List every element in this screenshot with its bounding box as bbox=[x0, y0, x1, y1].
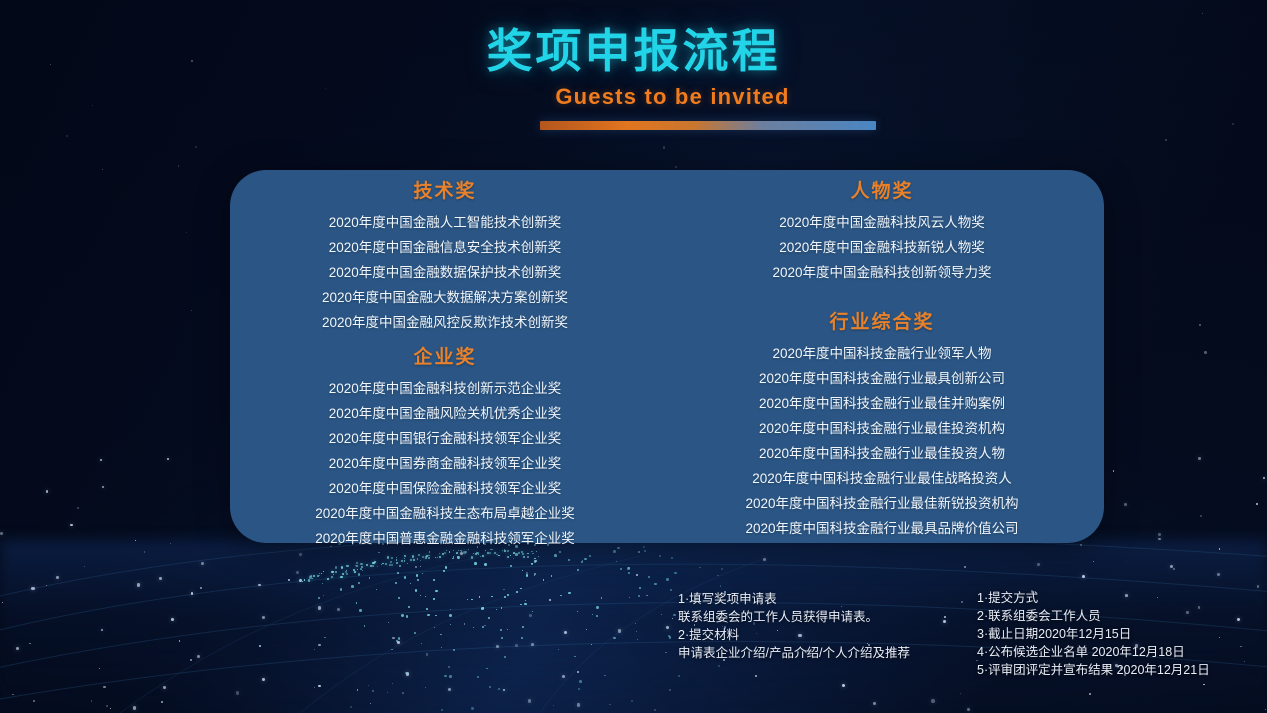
award-list-industry: 2020年度中国科技金融行业领军人物 2020年度中国科技金融行业最具创新公司 … bbox=[660, 341, 1104, 541]
spacer bbox=[660, 203, 1104, 210]
section-heading-industry: 行业综合奖 bbox=[660, 307, 1104, 334]
list-item: 2020年度中国银行金融科技领军企业奖 bbox=[230, 426, 660, 451]
list-item: 2020年度中国科技金融行业最佳新锐投资机构 bbox=[660, 491, 1104, 516]
award-list-person: 2020年度中国金融科技风云人物奖 2020年度中国金融科技新锐人物奖 2020… bbox=[660, 210, 1104, 285]
list-item: 2020年度中国金融信息安全技术创新奖 bbox=[230, 235, 660, 260]
award-list-technology: 2020年度中国金融人工智能技术创新奖 2020年度中国金融信息安全技术创新奖 … bbox=[230, 210, 660, 335]
awards-left-column: 技术奖 2020年度中国金融人工智能技术创新奖 2020年度中国金融信息安全技术… bbox=[230, 170, 660, 543]
awards-card: 技术奖 2020年度中国金融人工智能技术创新奖 2020年度中国金融信息安全技术… bbox=[230, 170, 1104, 543]
list-item: 2020年度中国科技金融行业最具品牌价值公司 bbox=[660, 516, 1104, 541]
list-item: 2020年度中国金融人工智能技术创新奖 bbox=[230, 210, 660, 235]
list-item: 2020年度中国科技金融行业最具创新公司 bbox=[660, 366, 1104, 391]
note-line: 联系组委会的工作人员获得申请表。 bbox=[678, 608, 910, 626]
spacer bbox=[230, 335, 660, 342]
note-line: 申请表企业介绍/产品介绍/个人介绍及推荐 bbox=[678, 644, 910, 662]
note-line: 1·提交方式 bbox=[977, 589, 1210, 607]
list-item: 2020年度中国金融科技风云人物奖 bbox=[660, 210, 1104, 235]
section-heading-technology: 技术奖 bbox=[230, 176, 660, 203]
page-subtitle: Guests to be invited bbox=[0, 84, 1267, 110]
submission-schedule-note: 1·提交方式 2·联系组委会工作人员 3·截止日期2020年12月15日 4·公… bbox=[977, 589, 1210, 679]
list-item: 2020年度中国科技金融行业领军人物 bbox=[660, 341, 1104, 366]
note-line: 2·联系组委会工作人员 bbox=[977, 607, 1210, 625]
list-item: 2020年度中国保险金融科技领军企业奖 bbox=[230, 476, 660, 501]
award-list-enterprise: 2020年度中国金融科技创新示范企业奖 2020年度中国金融风险关机优秀企业奖 … bbox=[230, 376, 660, 551]
spacer bbox=[230, 369, 660, 376]
list-item: 2020年度中国金融大数据解决方案创新奖 bbox=[230, 285, 660, 310]
note-line: 4·公布候选企业名单 2020年12月18日 bbox=[977, 643, 1210, 661]
application-steps-note: 1·填写奖项申请表 联系组委会的工作人员获得申请表。 2·提交材料 申请表企业介… bbox=[678, 590, 910, 662]
list-item: 2020年度中国金融风险关机优秀企业奖 bbox=[230, 401, 660, 426]
list-item: 2020年度中国金融科技新锐人物奖 bbox=[660, 235, 1104, 260]
list-item: 2020年度中国科技金融行业最佳投资人物 bbox=[660, 441, 1104, 466]
list-item: 2020年度中国科技金融行业最佳战略投资人 bbox=[660, 466, 1104, 491]
section-heading-enterprise: 企业奖 bbox=[230, 342, 660, 369]
spacer bbox=[660, 334, 1104, 341]
note-line: 2·提交材料 bbox=[678, 626, 910, 644]
note-line: 1·填写奖项申请表 bbox=[678, 590, 910, 608]
note-line: 3·截止日期2020年12月15日 bbox=[977, 625, 1210, 643]
title-underline-bar bbox=[540, 121, 876, 130]
note-line: 5·评审团评定并宣布结果 2020年12月21日 bbox=[977, 661, 1210, 679]
list-item: 2020年度中国金融科技生态布局卓越企业奖 bbox=[230, 501, 660, 526]
page-header: 奖项申报流程 Guests to be invited bbox=[0, 26, 1267, 130]
list-item: 2020年度中国金融数据保护技术创新奖 bbox=[230, 260, 660, 285]
list-item: 2020年度中国科技金融行业最佳并购案例 bbox=[660, 391, 1104, 416]
spacer bbox=[660, 285, 1104, 307]
list-item: 2020年度中国金融风控反欺诈技术创新奖 bbox=[230, 310, 660, 335]
awards-right-column: 人物奖 2020年度中国金融科技风云人物奖 2020年度中国金融科技新锐人物奖 … bbox=[660, 170, 1104, 543]
list-item: 2020年度中国普惠金融金融科技领军企业奖 bbox=[230, 526, 660, 551]
list-item: 2020年度中国科技金融行业最佳投资机构 bbox=[660, 416, 1104, 441]
spacer bbox=[230, 203, 660, 210]
list-item: 2020年度中国券商金融科技领军企业奖 bbox=[230, 451, 660, 476]
section-heading-person: 人物奖 bbox=[660, 176, 1104, 203]
page-title: 奖项申报流程 bbox=[0, 26, 1267, 78]
list-item: 2020年度中国金融科技创新领导力奖 bbox=[660, 260, 1104, 285]
list-item: 2020年度中国金融科技创新示范企业奖 bbox=[230, 376, 660, 401]
